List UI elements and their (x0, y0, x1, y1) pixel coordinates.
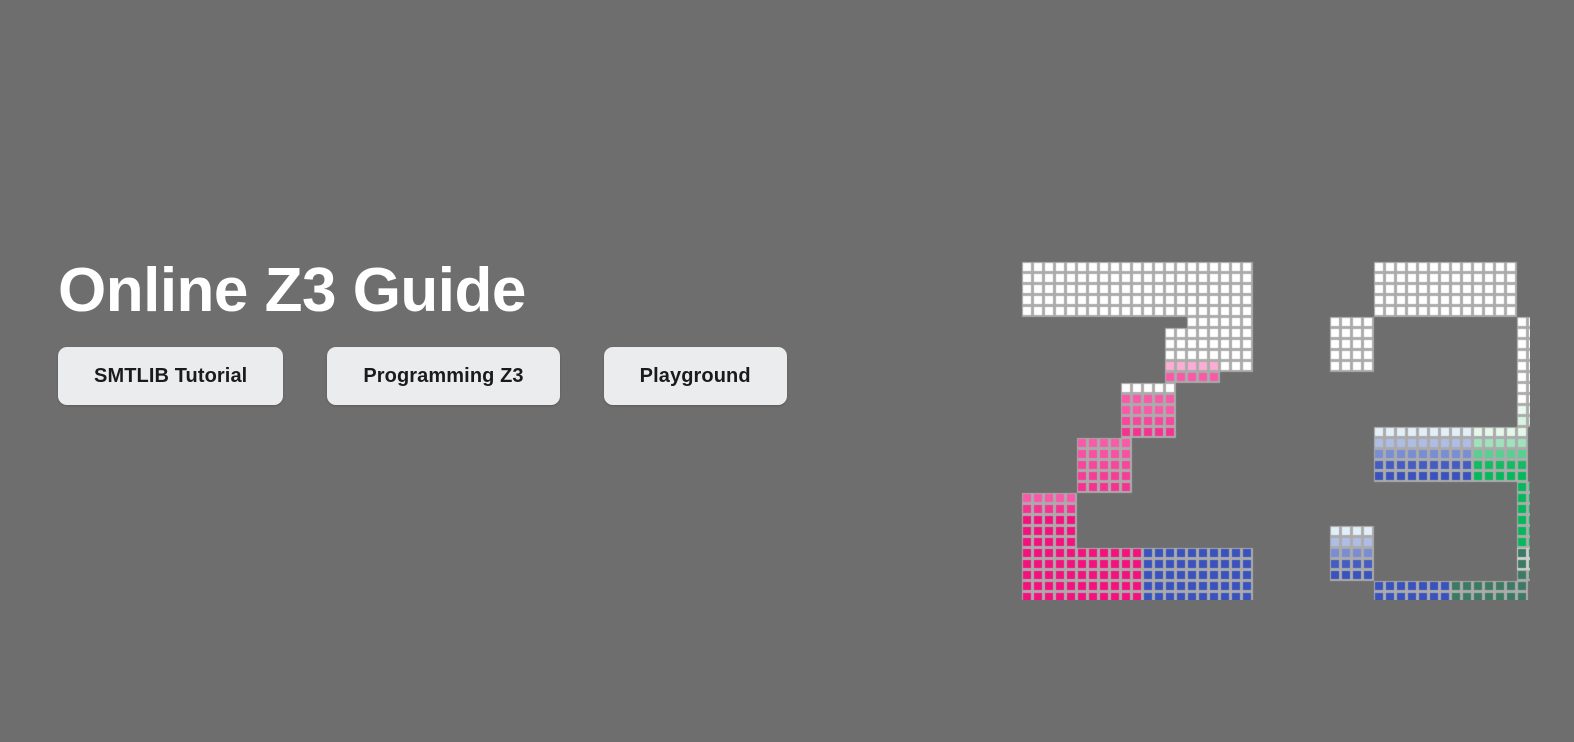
playground-button[interactable]: Playground (604, 347, 787, 405)
hero-button-group: SMTLIB Tutorial Programming Z3 Playgroun… (58, 347, 958, 405)
programming-z3-button[interactable]: Programming Z3 (327, 347, 559, 405)
z3-pixel-logo-canvas (1010, 250, 1530, 600)
hero-text-block: Online Z3 Guide SMTLIB Tutorial Programm… (58, 258, 958, 405)
page-title: Online Z3 Guide (58, 258, 958, 323)
hero-section: Online Z3 Guide SMTLIB Tutorial Programm… (0, 0, 1574, 742)
z3-logo (1010, 250, 1530, 600)
smtlib-tutorial-button[interactable]: SMTLIB Tutorial (58, 347, 283, 405)
